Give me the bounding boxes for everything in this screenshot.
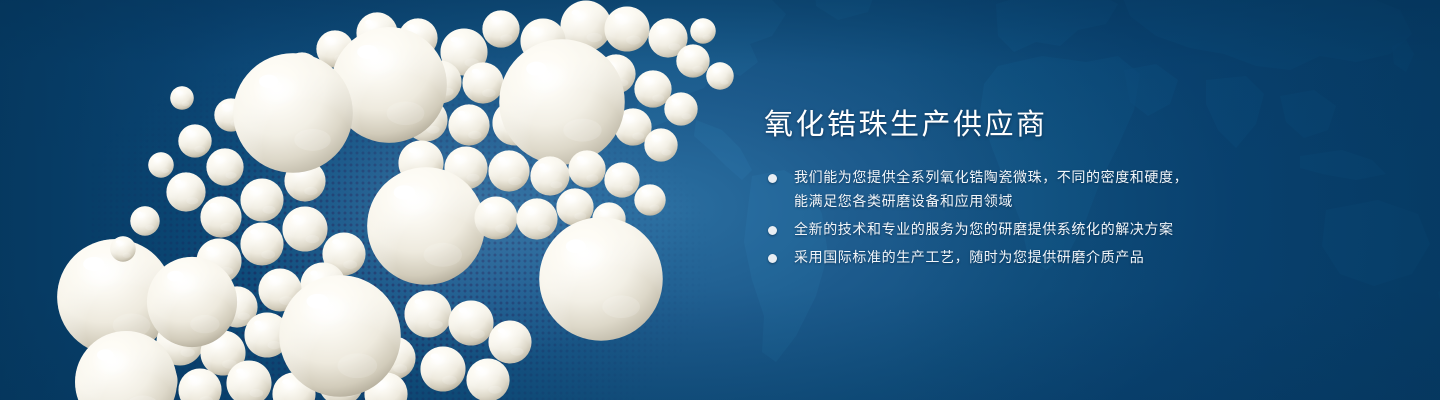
list-item-line2: 能满足您各类研磨设备和应用领域 <box>794 190 1404 214</box>
zirconia-bead-cluster-image <box>0 0 760 400</box>
banner-copy: 氧化锆珠生产供应商 我们能为您提供全系列氧化锆陶瓷微珠，不同的密度和硬度， 能满… <box>764 104 1404 274</box>
list-item-line1: 采用国际标准的生产工艺，随时为您提供研磨介质产品 <box>794 250 1144 266</box>
bullet-dot-icon <box>768 174 777 183</box>
list-item-line1: 我们能为您提供全系列氧化锆陶瓷微珠，不同的密度和硬度， <box>794 170 1188 186</box>
list-item: 采用国际标准的生产工艺，随时为您提供研磨介质产品 <box>764 246 1404 270</box>
list-item: 我们能为您提供全系列氧化锆陶瓷微珠，不同的密度和硬度， 能满足您各类研磨设备和应… <box>764 166 1404 214</box>
bullet-dot-icon <box>768 226 777 235</box>
page-title: 氧化锆珠生产供应商 <box>764 104 1404 144</box>
feature-list: 我们能为您提供全系列氧化锆陶瓷微珠，不同的密度和硬度， 能满足您各类研磨设备和应… <box>764 166 1404 270</box>
list-item: 全新的技术和专业的服务为您的研磨提供系统化的解决方案 <box>764 218 1404 242</box>
hero-banner: 氧化锆珠生产供应商 我们能为您提供全系列氧化锆陶瓷微珠，不同的密度和硬度， 能满… <box>0 0 1440 400</box>
bullet-dot-icon <box>768 254 777 263</box>
list-item-line1: 全新的技术和专业的服务为您的研磨提供系统化的解决方案 <box>794 222 1174 238</box>
